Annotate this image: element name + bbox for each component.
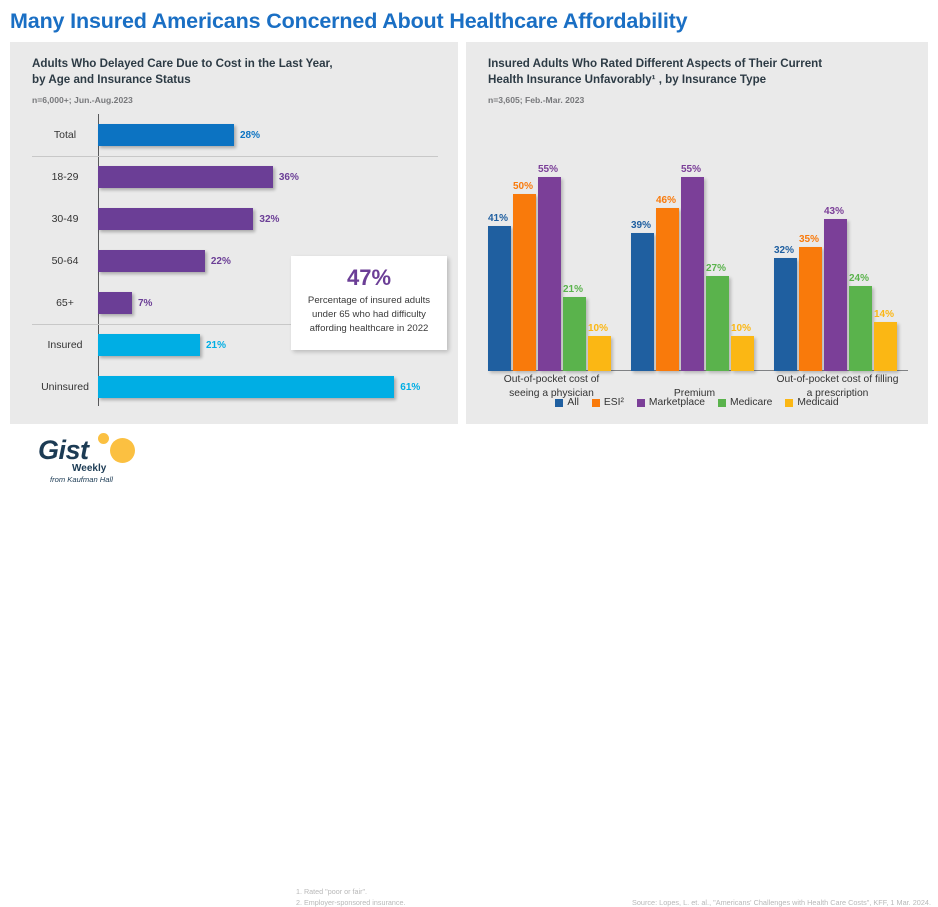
bar-track: 61% <box>98 366 438 408</box>
legend-item[interactable]: ESI² <box>592 397 624 408</box>
column-value-label: 35% <box>799 234 819 245</box>
column-slot: 10% <box>731 336 754 371</box>
column-bar: 55% <box>538 177 561 371</box>
grouped-column-chart: 41%50%55%21%10%Out-of-pocket cost of see… <box>488 118 908 393</box>
legend-label: Marketplace <box>649 397 705 408</box>
gist-weekly-logo: Gist Weekly from Kaufman Hall <box>36 432 156 488</box>
column-slot: 35% <box>799 247 822 371</box>
column-bar: 39% <box>631 233 654 371</box>
source-citation: Source: Lopes, L. et. al., "Americans' C… <box>632 898 931 907</box>
footnote-1: 1. Rated "poor or fair". <box>296 887 367 896</box>
column-value-label: 39% <box>631 220 651 231</box>
bar-value-label: 28% <box>240 130 260 141</box>
bar-track: 36% <box>98 156 438 198</box>
bar-category-label: 65+ <box>32 297 98 309</box>
column-value-label: 24% <box>849 273 869 284</box>
column-slot: 43% <box>824 219 847 371</box>
column-slot: 10% <box>588 336 611 371</box>
legend-item[interactable]: Medicaid <box>785 397 838 408</box>
legend-item[interactable]: Marketplace <box>637 397 705 408</box>
bar-value-label: 61% <box>400 382 420 393</box>
legend-item[interactable]: Medicare <box>718 397 772 408</box>
column-bar: 41% <box>488 226 511 371</box>
left-chart-panel: Adults Who Delayed Care Due to Cost in t… <box>10 42 458 424</box>
column-bar: 55% <box>681 177 704 371</box>
bar-category-label: 30-49 <box>32 213 98 225</box>
logo-dot-small-icon <box>98 433 109 444</box>
bar-category-label: 50-64 <box>32 255 98 267</box>
logo-attribution: from Kaufman Hall <box>50 475 113 484</box>
bar-track: 28% <box>98 114 438 156</box>
column-bar: 50% <box>513 194 536 371</box>
column-bar: 35% <box>799 247 822 371</box>
column-slot: 27% <box>706 276 729 371</box>
page-header: Many Insured Americans Concerned About H… <box>0 0 938 42</box>
column-bar: 24% <box>849 286 872 371</box>
column-slot: 55% <box>681 177 704 371</box>
column-bar: 10% <box>588 336 611 371</box>
column-slot: 41% <box>488 226 511 371</box>
bar-track: 32% <box>98 198 438 240</box>
column-slot: 39% <box>631 233 654 371</box>
column-group: 39%46%55%27%10% <box>631 139 758 371</box>
bar-value-label: 22% <box>211 256 231 267</box>
logo-dot-large-icon <box>110 438 135 463</box>
column-value-label: 10% <box>731 323 751 334</box>
right-chart-subtitle: n=3,605; Feb.-Mar. 2023 <box>488 95 584 105</box>
column-value-label: 14% <box>874 309 894 320</box>
left-chart-title: Adults Who Delayed Care Due to Cost in t… <box>32 56 333 88</box>
callout-box: 47% Percentage of insured adults under 6… <box>291 256 447 350</box>
column-value-label: 41% <box>488 213 508 224</box>
column-value-label: 50% <box>513 181 533 192</box>
legend-swatch-icon <box>592 399 600 407</box>
column-bar: 32% <box>774 258 797 371</box>
column-bar: 46% <box>656 208 679 371</box>
right-chart-panel: Insured Adults Who Rated Different Aspec… <box>466 42 928 424</box>
bar <box>98 376 394 398</box>
callout-number: 47% <box>291 265 447 291</box>
bar-value-label: 32% <box>259 214 279 225</box>
bar-row: 30-4932% <box>32 198 438 240</box>
column-value-label: 32% <box>774 245 794 256</box>
column-slot: 50% <box>513 194 536 371</box>
legend-item[interactable]: All <box>555 397 578 408</box>
page-footer: Gist Weekly from Kaufman Hall 1. Rated "… <box>0 424 938 492</box>
callout-description: Percentage of insured adults under 65 wh… <box>291 291 447 336</box>
legend-label: Medicaid <box>797 397 838 408</box>
column-group: 41%50%55%21%10% <box>488 139 615 371</box>
column-bar: 43% <box>824 219 847 371</box>
legend-swatch-icon <box>785 399 793 407</box>
right-chart-title: Insured Adults Who Rated Different Aspec… <box>488 56 822 88</box>
column-value-label: 21% <box>563 284 583 295</box>
bar-value-label: 21% <box>206 340 226 351</box>
bar-category-label: Total <box>32 129 98 141</box>
column-bar: 10% <box>731 336 754 371</box>
bar <box>98 334 200 356</box>
bar <box>98 250 205 272</box>
bar-value-label: 7% <box>138 298 152 309</box>
legend-label: ESI² <box>604 397 624 408</box>
column-bar: 21% <box>563 297 586 371</box>
column-value-label: 55% <box>681 164 701 175</box>
bar <box>98 166 273 188</box>
chart-legend: AllESI²MarketplaceMedicareMedicaid <box>466 397 928 408</box>
legend-label: All <box>567 397 578 408</box>
bar-row: 18-2936% <box>32 156 438 198</box>
column-slot: 32% <box>774 258 797 371</box>
column-value-label: 46% <box>656 195 676 206</box>
column-slot: 46% <box>656 208 679 371</box>
column-value-label: 43% <box>824 206 844 217</box>
bar <box>98 292 132 314</box>
column-slot: 14% <box>874 322 897 371</box>
column-slot: 55% <box>538 177 561 371</box>
column-slot: 24% <box>849 286 872 371</box>
legend-label: Medicare <box>730 397 772 408</box>
column-bar: 14% <box>874 322 897 371</box>
legend-swatch-icon <box>718 399 726 407</box>
legend-swatch-icon <box>555 399 563 407</box>
bar <box>98 124 234 146</box>
logo-wordmark: Gist <box>38 435 89 466</box>
bar-category-label: Insured <box>32 339 98 351</box>
column-group: 32%35%43%24%14% <box>774 139 901 371</box>
bar-row: Total28% <box>32 114 438 156</box>
bar-category-label: Uninsured <box>32 381 98 393</box>
footnote-2: 2. Employer-sponsored insurance. <box>296 898 405 907</box>
column-value-label: 55% <box>538 164 558 175</box>
bar-category-label: 18-29 <box>32 171 98 183</box>
page-title: Many Insured Americans Concerned About H… <box>0 9 688 34</box>
column-bar: 27% <box>706 276 729 371</box>
bar-value-label: 36% <box>279 172 299 183</box>
bar-row: Uninsured61% <box>32 366 438 408</box>
column-slot: 21% <box>563 297 586 371</box>
column-value-label: 10% <box>588 323 608 334</box>
legend-swatch-icon <box>637 399 645 407</box>
bar <box>98 208 253 230</box>
left-chart-subtitle: n=6,000+; Jun.-Aug.2023 <box>32 95 133 105</box>
logo-weekly-label: Weekly <box>72 463 106 474</box>
column-value-label: 27% <box>706 263 726 274</box>
